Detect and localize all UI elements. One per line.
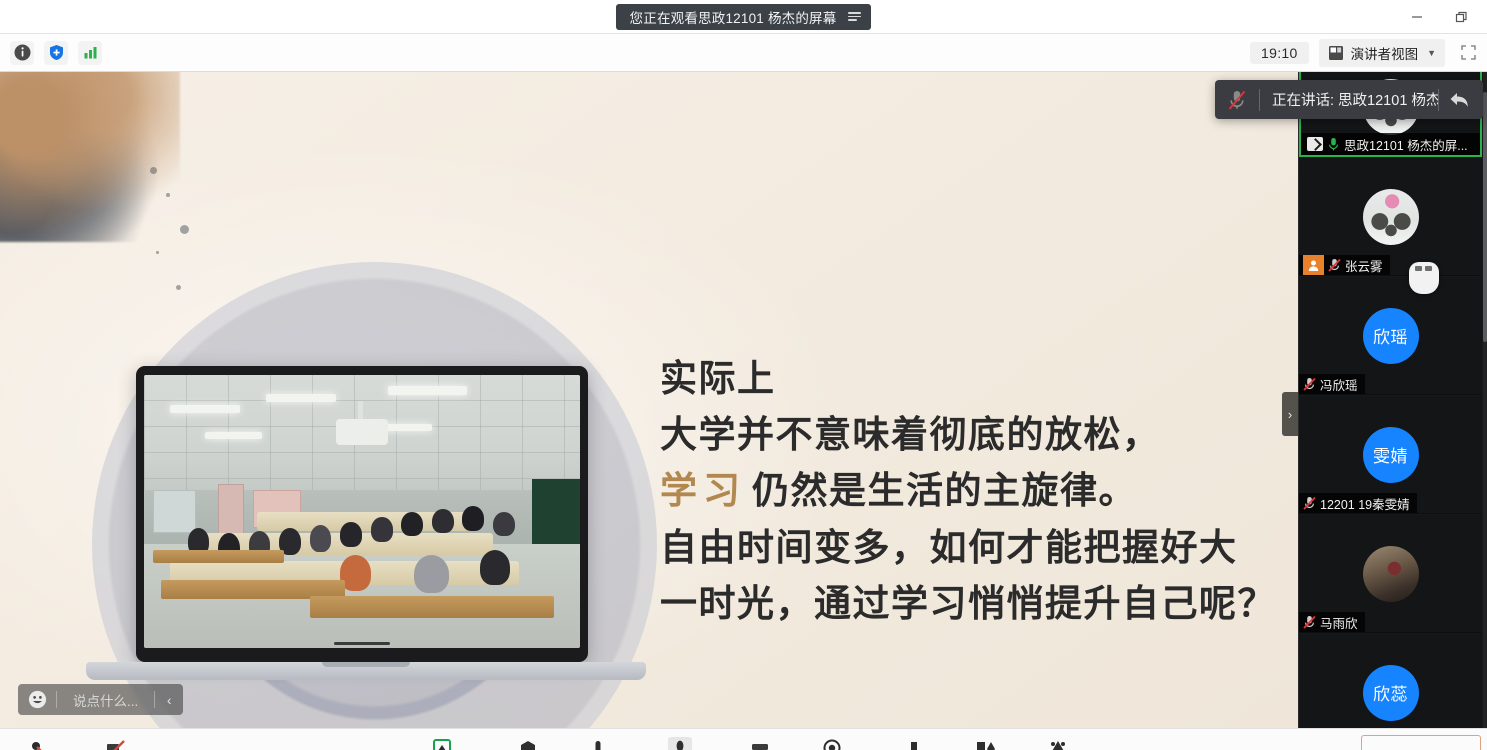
collapse-strip-handle[interactable]: › (1282, 392, 1298, 436)
return-arrow-icon[interactable] (1439, 91, 1479, 109)
screen-share-icon (1307, 137, 1323, 151)
taskbar-app-8[interactable] (820, 737, 844, 750)
view-selector-label: 演讲者视图 (1351, 43, 1419, 63)
participant-name-bar: 12201 19秦雯婧 (1299, 493, 1417, 513)
slide-line-3-rest: 仍然是生活的主旋律。 (752, 468, 1137, 512)
laptop-mockup (86, 296, 646, 696)
participant-tile-6[interactable]: 欣蕊 (1299, 634, 1482, 728)
ink-splash-decoration (0, 72, 180, 242)
participant-scrollbar[interactable] (1483, 72, 1487, 728)
slide-text-block: 实际上 大学并不意味着彻底的放松， 学习仍然是生活的主旋律。 自由时间变多，如何… (660, 350, 1270, 631)
slide-highlight-text: 学习 (660, 468, 752, 512)
system-tray-region[interactable] (1361, 735, 1481, 750)
taskbar-app-6[interactable] (668, 737, 692, 750)
view-selector[interactable]: 演讲者视图 ▼ (1319, 39, 1445, 67)
avatar-initials: 欣蕊 (1373, 680, 1408, 705)
participant-name-bar: 马雨欣 (1299, 612, 1365, 632)
laptop-lid (136, 366, 588, 662)
meeting-clock: 19:10 (1250, 42, 1309, 64)
chat-input-bar[interactable]: 说点什么... ‹ (18, 684, 183, 715)
toolbar-right-group: 19:10 演讲者视图 ▼ (1250, 39, 1487, 67)
taskbar-app-7[interactable] (748, 737, 772, 750)
window-controls (1395, 0, 1483, 34)
active-speaker-label: 正在讲话: 思政12101 杨杰 (1260, 89, 1438, 110)
avatar-initials: 欣瑶 (1373, 323, 1408, 348)
mic-muted-icon (1215, 89, 1259, 111)
fullscreen-icon[interactable] (1455, 40, 1481, 66)
minimize-button[interactable] (1395, 1, 1439, 33)
avatar-initials: 雯婧 (1373, 442, 1408, 467)
network-signal-icon[interactable] (78, 41, 102, 65)
slide-line-5: 一时光，通过学习悄悄提升自己呢？ (660, 575, 1270, 631)
participant-tile-host[interactable]: 张云雾 (1299, 158, 1482, 276)
system-taskbar[interactable] (0, 728, 1487, 750)
slide-line-1: 实际上 (660, 350, 1270, 406)
layout-view-icon (1328, 45, 1344, 61)
chevron-down-icon: ▼ (1427, 48, 1436, 58)
taskbar-app-3[interactable] (430, 737, 454, 750)
shared-screen-stage[interactable]: 实际上 大学并不意味着彻底的放松， 学习仍然是生活的主旋律。 自由时间变多，如何… (0, 72, 1298, 728)
info-icon[interactable] (10, 41, 34, 65)
taskbar-app-4[interactable] (516, 737, 540, 750)
participant-tile-5[interactable]: 马雨欣 (1299, 515, 1482, 633)
taskbar-app-11[interactable] (1046, 737, 1070, 750)
participant-name-bar: 张云雾 (1299, 255, 1390, 275)
security-shield-icon[interactable] (44, 41, 68, 65)
meeting-window: 您正在观看思政12101 杨杰的屏幕 (0, 0, 1487, 750)
mic-muted-icon (1303, 615, 1316, 629)
participant-name: 冯欣瑶 (1320, 375, 1358, 394)
participant-name: 思政12101 杨杰的屏... (1344, 135, 1468, 154)
participant-tile-4[interactable]: 雯婧 12201 19秦雯婧 (1299, 396, 1482, 514)
avatar: 欣瑶 (1363, 308, 1419, 364)
participant-name: 12201 19秦雯婧 (1320, 494, 1410, 513)
taskbar-app-10[interactable] (974, 737, 998, 750)
taskbar-app-9[interactable] (902, 737, 926, 750)
participant-name-bar: 冯欣瑶 (1299, 374, 1365, 394)
active-speaker-overlay[interactable]: 正在讲话: 思政12101 杨杰 (1215, 80, 1483, 119)
participant-strip[interactable]: 思政12101 杨杰的屏... 张云雾 欣瑶 冯欣瑶 雯婧 (1298, 72, 1487, 728)
taskbar-app-5[interactable] (586, 737, 610, 750)
meeting-toolbar: 19:10 演讲者视图 ▼ (0, 34, 1487, 72)
mic-on-icon (1328, 137, 1339, 151)
slide-line-3: 学习仍然是生活的主旋律。 (660, 462, 1270, 518)
avatar (1363, 189, 1419, 245)
toolbar-left-group (0, 41, 102, 65)
mic-muted-icon (1303, 377, 1316, 391)
avatar: 雯婧 (1363, 427, 1419, 483)
avatar: 欣蕊 (1363, 665, 1419, 721)
restore-button[interactable] (1439, 1, 1483, 33)
emoji-smiley-icon[interactable] (18, 690, 56, 709)
taskbar-app-2[interactable] (104, 737, 128, 750)
avatar (1363, 546, 1419, 602)
mic-muted-icon (1328, 258, 1341, 272)
window-title: 您正在观看思政12101 杨杰的屏幕 (630, 7, 837, 27)
hamburger-icon[interactable] (848, 12, 861, 21)
host-person-icon (1303, 255, 1324, 275)
taskbar-app-1[interactable] (26, 737, 50, 750)
share-name-bar: 思政12101 杨杰的屏... (1301, 133, 1480, 155)
remote-pointer-cursor (1409, 262, 1439, 294)
laptop-base (86, 662, 646, 680)
chat-input-placeholder[interactable]: 说点什么... (57, 690, 154, 710)
participant-name: 马雨欣 (1320, 613, 1358, 632)
slide-line-4: 自由时间变多，如何才能把握好大 (660, 519, 1270, 575)
participant-tile-3[interactable]: 欣瑶 冯欣瑶 (1299, 277, 1482, 395)
slide-line-2: 大学并不意味着彻底的放松， (660, 406, 1270, 462)
title-bar: 您正在观看思政12101 杨杰的屏幕 (0, 0, 1487, 34)
watching-screen-banner[interactable]: 您正在观看思政12101 杨杰的屏幕 (616, 4, 872, 30)
chevron-left-icon[interactable]: ‹ (155, 692, 183, 708)
participant-name: 张云雾 (1345, 256, 1383, 275)
mic-muted-icon (1303, 496, 1316, 510)
classroom-photo (144, 375, 580, 648)
